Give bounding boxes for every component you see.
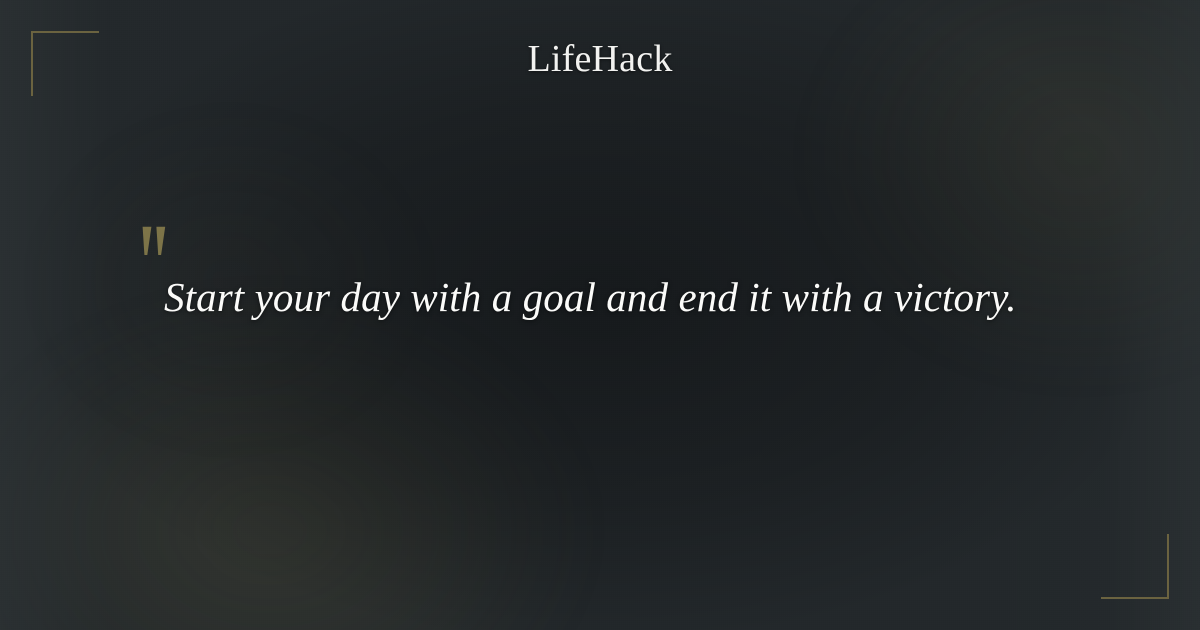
- quote-card: LifeHack Start your day with a goal and …: [0, 0, 1200, 630]
- brand-name: LifeHack: [527, 40, 672, 78]
- brand-logo: LifeHack: [0, 40, 1200, 78]
- quote-text: Start your day with a goal and end it wi…: [164, 270, 1098, 324]
- corner-bracket-top-left-horizontal: [31, 31, 99, 33]
- background-glow-lower-left: [0, 300, 580, 630]
- corner-bracket-bottom-right-horizontal: [1101, 597, 1169, 599]
- corner-bracket-bottom-right-vertical: [1167, 534, 1169, 599]
- quote-block: Start your day with a goal and end it wi…: [138, 226, 1098, 324]
- corner-bracket-bottom-right-icon: [1101, 534, 1169, 599]
- quote-mark-icon: [139, 226, 173, 262]
